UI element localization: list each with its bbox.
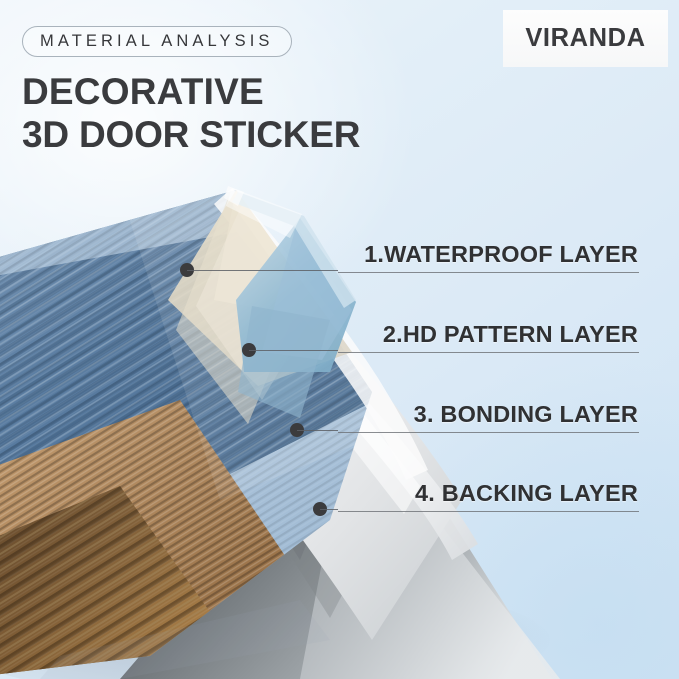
callout-leader-line: [297, 430, 338, 431]
callout-underline: [338, 352, 639, 353]
callout-label: 2.HD PATTERN LAYER: [383, 321, 638, 348]
callout-underline: [338, 432, 639, 433]
callout-label: 1.WATERPROOF LAYER: [364, 241, 638, 268]
callout-leader-line: [249, 350, 338, 351]
infographic-page: MATERIAL ANALYSIS DECORATIVE 3D DOOR STI…: [0, 0, 679, 679]
layer-callouts: 1.WATERPROOF LAYER 2.HD PATTERN LAYER 3.…: [0, 0, 679, 679]
callout-underline: [338, 511, 639, 512]
callout-leader-line: [187, 270, 338, 271]
callout-label: 4. BACKING LAYER: [415, 480, 638, 507]
callout-label: 3. BONDING LAYER: [414, 401, 638, 428]
callout-leader-line: [320, 509, 338, 510]
callout-underline: [338, 272, 639, 273]
